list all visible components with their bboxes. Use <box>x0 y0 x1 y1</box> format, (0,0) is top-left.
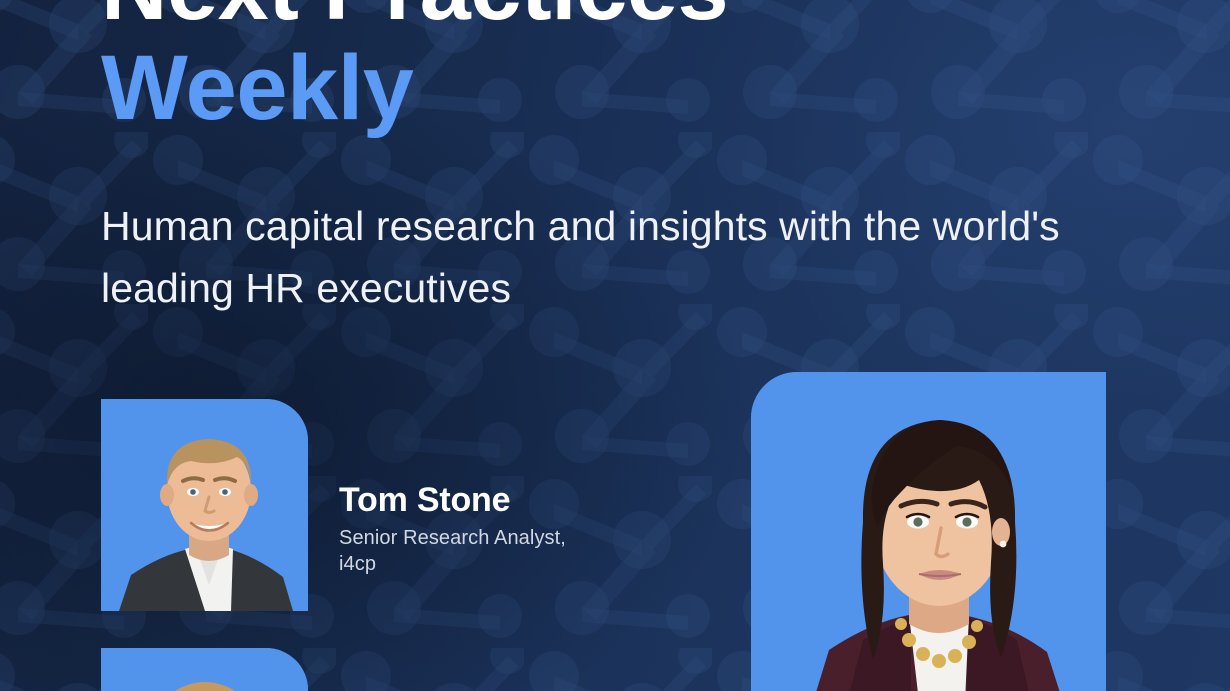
speaker-role: Senior Research Analyst, i4cp <box>339 526 709 577</box>
speaker-photo-second <box>101 648 308 691</box>
speaker-name: Tom Stone <box>339 481 709 520</box>
speaker-role-line-1: Senior Research Analyst, <box>339 526 709 552</box>
presentation-slide: Next Practices Weekly Human capital rese… <box>0 0 1230 691</box>
speaker-photo-featured-guest <box>751 372 1106 691</box>
slide-subtitle: Human capital research and insights with… <box>101 196 1061 319</box>
speaker-info: Tom Stone Senior Research Analyst, i4cp <box>339 481 709 577</box>
slide-headline: Next Practices Weekly <box>101 0 1001 136</box>
title-primary: Next Practices <box>101 0 1001 36</box>
speaker-photo-tom-stone <box>101 399 308 611</box>
speaker-role-line-2: i4cp <box>339 552 709 578</box>
title-accent: Weekly <box>101 42 1001 136</box>
